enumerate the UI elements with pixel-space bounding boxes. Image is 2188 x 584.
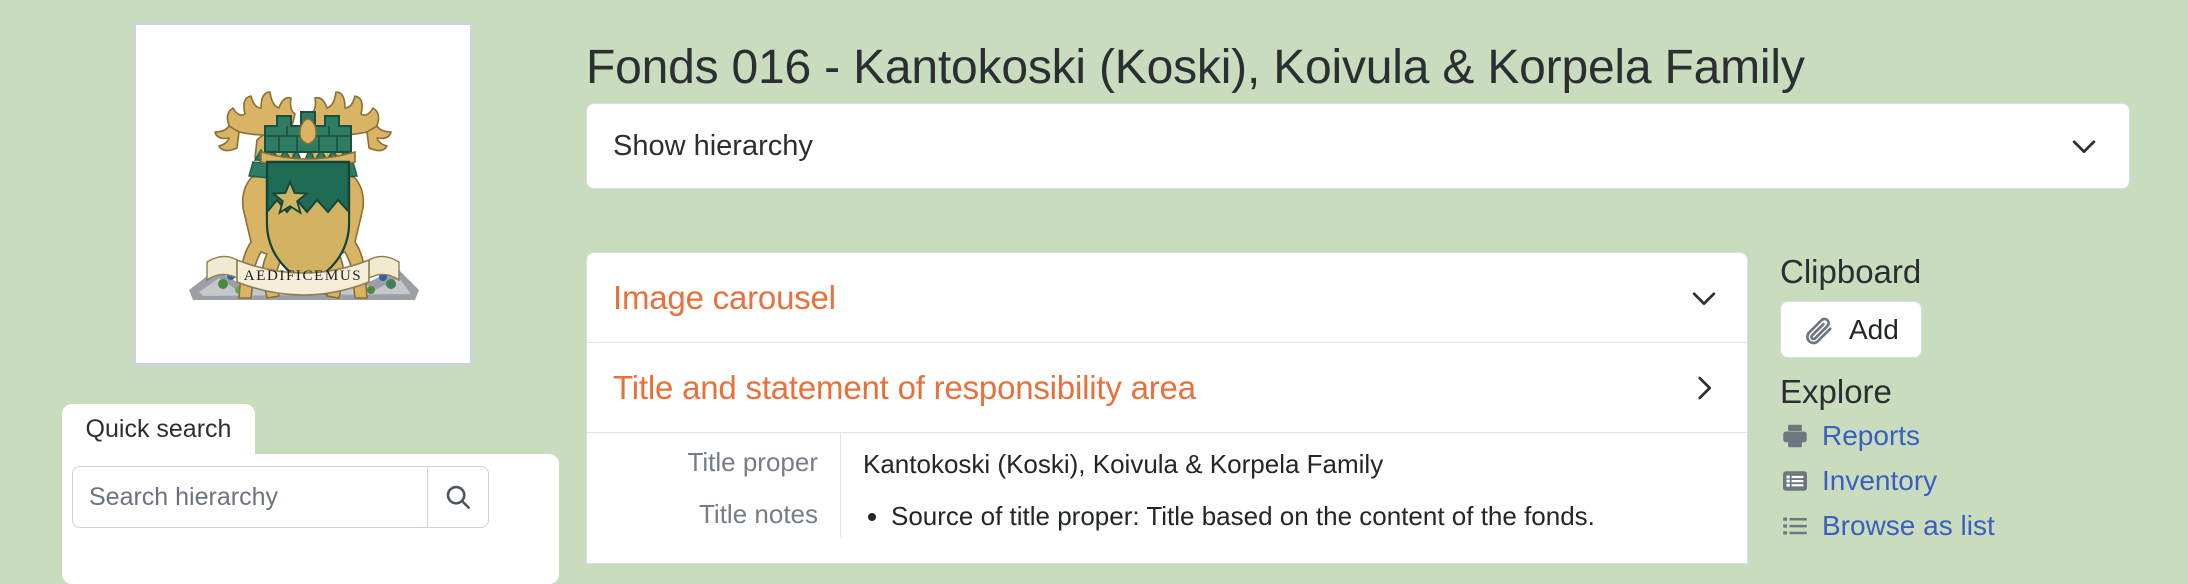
explore-item-browse-as-list[interactable]: Browse as list bbox=[1780, 508, 2180, 544]
list-icon bbox=[1780, 511, 1810, 541]
search-input-group bbox=[72, 466, 492, 528]
clipboard-add-label: Add bbox=[1849, 314, 1899, 346]
accordion-title-statement-responsibility[interactable]: Title and statement of responsibility ar… bbox=[587, 343, 1747, 433]
field-label: Title proper bbox=[587, 433, 841, 485]
information-area-card: Image carousel Title and statement of re… bbox=[586, 252, 1748, 564]
accordion-image-carousel[interactable]: Image carousel bbox=[587, 253, 1747, 343]
explore-item-inventory[interactable]: Inventory bbox=[1780, 463, 2180, 499]
clipboard-heading: Clipboard bbox=[1780, 253, 1921, 291]
list-box-icon bbox=[1780, 466, 1810, 496]
field-label: Title notes bbox=[587, 485, 841, 537]
chevron-right-icon bbox=[1687, 371, 1721, 405]
page-root: AEDIFICEMUS Quick search Fonds 016 - Ka bbox=[0, 0, 2188, 564]
quick-search-tab-label: Quick search bbox=[86, 415, 232, 444]
coat-of-arms-svg: AEDIFICEMUS bbox=[153, 44, 453, 344]
chevron-down-icon bbox=[2067, 129, 2101, 163]
coat-of-arms-image: AEDIFICEMUS bbox=[133, 22, 473, 366]
chevron-down-icon bbox=[1687, 281, 1721, 315]
explore-item-label: Reports bbox=[1822, 420, 1920, 452]
printer-icon bbox=[1780, 421, 1810, 451]
search-icon bbox=[443, 482, 473, 512]
explore-item-label: Browse as list bbox=[1822, 510, 1995, 542]
title-notes-list: Source of title proper: Title based on t… bbox=[863, 499, 1747, 534]
show-hierarchy-toggle[interactable]: Show hierarchy bbox=[586, 103, 2130, 189]
field-value: Kantokoski (Koski), Koivula & Korpela Fa… bbox=[841, 433, 1747, 482]
accordion-title-statement-responsibility-label: Title and statement of responsibility ar… bbox=[613, 369, 1687, 407]
quick-search-body bbox=[62, 454, 559, 584]
explore-list: Reports Inventory bbox=[1780, 418, 2180, 553]
search-button[interactable] bbox=[427, 466, 489, 528]
clipboard-add-button[interactable]: Add bbox=[1780, 301, 1922, 358]
tab-quick-search[interactable]: Quick search bbox=[62, 404, 255, 454]
explore-item-label: Inventory bbox=[1822, 465, 1937, 497]
page-title: Fonds 016 - Kantokoski (Koski), Koivula … bbox=[586, 40, 1986, 95]
explore-heading: Explore bbox=[1780, 373, 1892, 411]
field-title-proper: Title proper Kantokoski (Koski), Koivula… bbox=[587, 433, 1747, 485]
field-title-notes: Title notes Source of title proper: Titl… bbox=[587, 485, 1747, 537]
paperclip-icon bbox=[1803, 314, 1835, 346]
field-value: Source of title proper: Title based on t… bbox=[841, 485, 1747, 534]
list-item: Source of title proper: Title based on t… bbox=[891, 499, 1747, 534]
motto-text: AEDIFICEMUS bbox=[244, 268, 362, 284]
quick-search-panel: Quick search bbox=[62, 404, 559, 584]
accordion-image-carousel-label: Image carousel bbox=[613, 279, 1687, 317]
explore-item-reports[interactable]: Reports bbox=[1780, 418, 2180, 454]
show-hierarchy-label: Show hierarchy bbox=[613, 130, 2067, 163]
search-input[interactable] bbox=[72, 466, 427, 528]
